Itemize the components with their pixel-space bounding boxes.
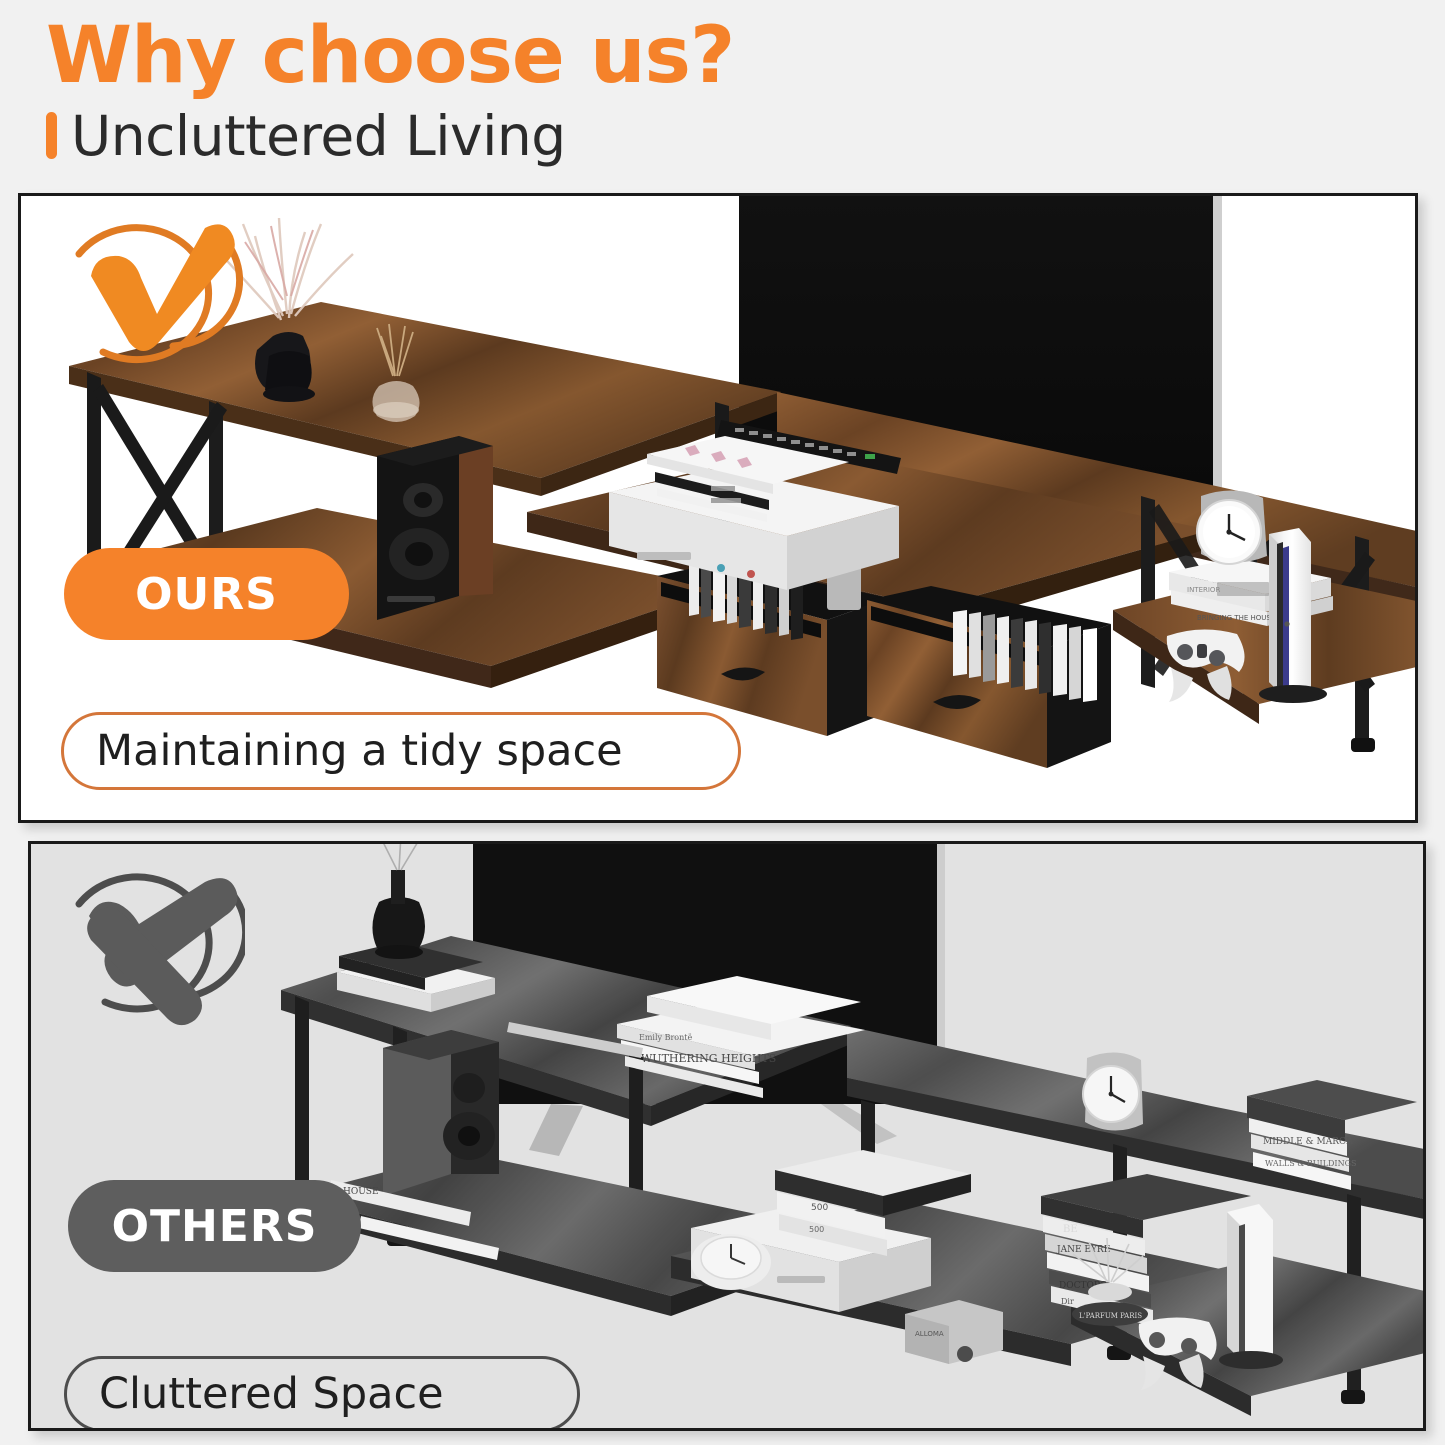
svg-text:500: 500 <box>809 1225 824 1234</box>
page-title: Why choose us? <box>46 16 1246 98</box>
badge-others: OTHERS <box>68 1180 361 1272</box>
bookshelf-speaker-others <box>383 1030 499 1196</box>
comparison-panel-others: WUTHERING HEIGHTS Emily Brontë <box>28 841 1426 1431</box>
badge-ours: OURS <box>64 548 349 640</box>
page-subtitle: Uncluttered Living <box>71 104 566 168</box>
page-header: Why choose us? Uncluttered Living <box>46 16 1246 168</box>
alarm-clock <box>1197 490 1267 564</box>
accent-bar <box>46 112 57 159</box>
subtitle-row: Uncluttered Living <box>46 104 1246 168</box>
svg-text:ALLOMA: ALLOMA <box>915 1330 944 1338</box>
svg-text:WALLS & BUILDINGS: WALLS & BUILDINGS <box>1265 1159 1356 1168</box>
caption-ours: Maintaining a tidy space <box>61 712 741 790</box>
check-icon <box>43 206 243 386</box>
svg-text:L'PARFUM PARIS: L'PARFUM PARIS <box>1079 1312 1142 1320</box>
svg-text:INTERIOR: INTERIOR <box>1187 586 1220 594</box>
svg-text:Dir: Dir <box>1061 1297 1074 1306</box>
svg-text:BE: BE <box>1063 1224 1078 1235</box>
bookshelf-speaker <box>377 436 493 620</box>
svg-text:Emily Brontë: Emily Brontë <box>639 1033 692 1042</box>
cross-icon <box>45 858 245 1038</box>
svg-text:MIDDLE & MARCH: MIDDLE & MARCH <box>1263 1137 1354 1147</box>
svg-text:WUTHERING HEIGHTS: WUTHERING HEIGHTS <box>641 1052 776 1065</box>
black-vase <box>372 844 425 959</box>
comparison-panel-ours: BRINGING THE HOUSE HOME INTERIOR <box>18 193 1418 823</box>
svg-text:JANE EYRE: JANE EYRE <box>1056 1245 1110 1255</box>
svg-text:500: 500 <box>811 1203 828 1213</box>
round-clock-on-shelf <box>691 1234 771 1290</box>
desk-clock-round <box>1083 1052 1143 1130</box>
caption-others: Cluttered Space <box>64 1356 580 1431</box>
